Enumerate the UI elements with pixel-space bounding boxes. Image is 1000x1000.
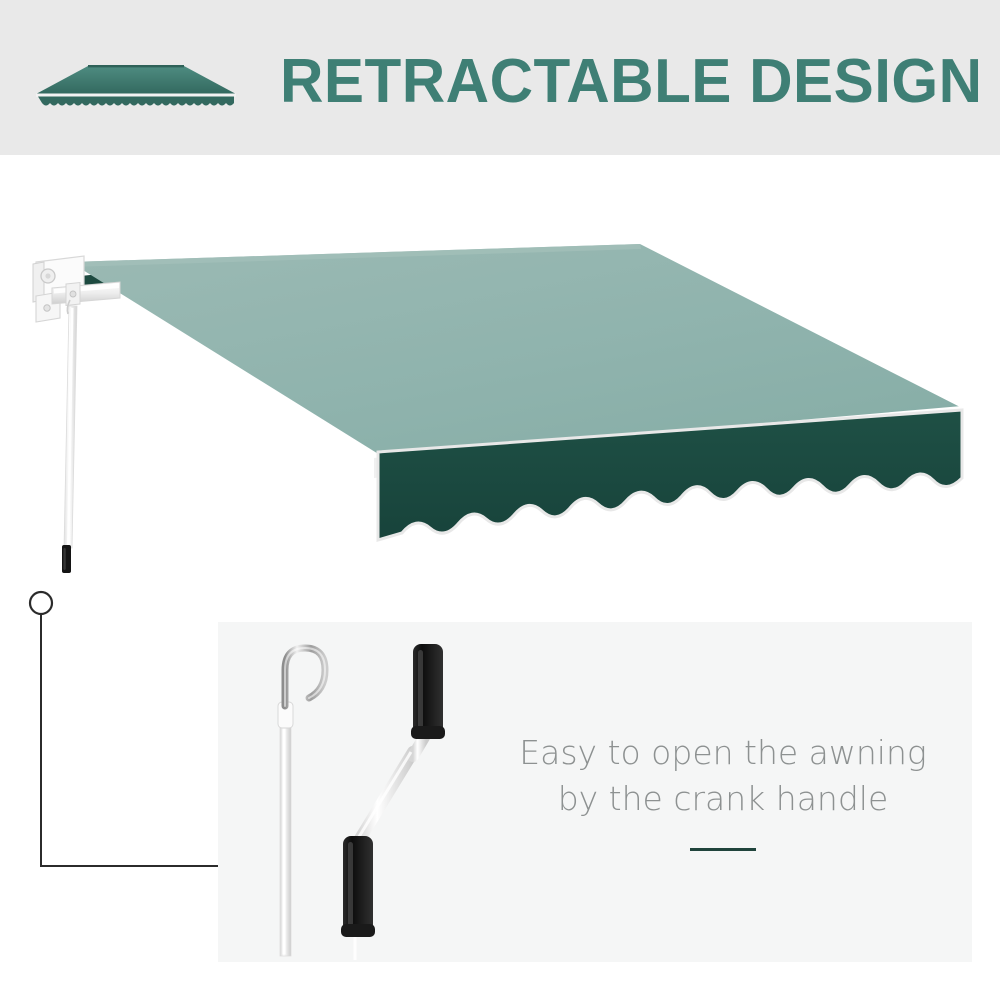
product-feature-graphic: RETRACTABLE DESIGN bbox=[0, 0, 1000, 1000]
support-arm bbox=[52, 282, 120, 314]
crank-handle bbox=[341, 644, 445, 960]
caption-divider bbox=[690, 848, 756, 851]
crank-lower-grip bbox=[341, 836, 375, 937]
caption-block: Easy to open the awning by the crank han… bbox=[488, 730, 958, 851]
crank-hook bbox=[285, 648, 325, 706]
crank-rod bbox=[62, 306, 77, 573]
crank-upper-grip bbox=[411, 644, 445, 739]
caption-line-2: by the crank handle bbox=[488, 776, 958, 822]
caption-line-1: Easy to open the awning bbox=[488, 730, 958, 776]
crank-handle-illustration bbox=[258, 630, 518, 960]
crank-rod-grip bbox=[62, 545, 71, 573]
crank-hook-rod bbox=[278, 648, 325, 956]
inset-panel: Easy to open the awning by the crank han… bbox=[218, 622, 972, 962]
